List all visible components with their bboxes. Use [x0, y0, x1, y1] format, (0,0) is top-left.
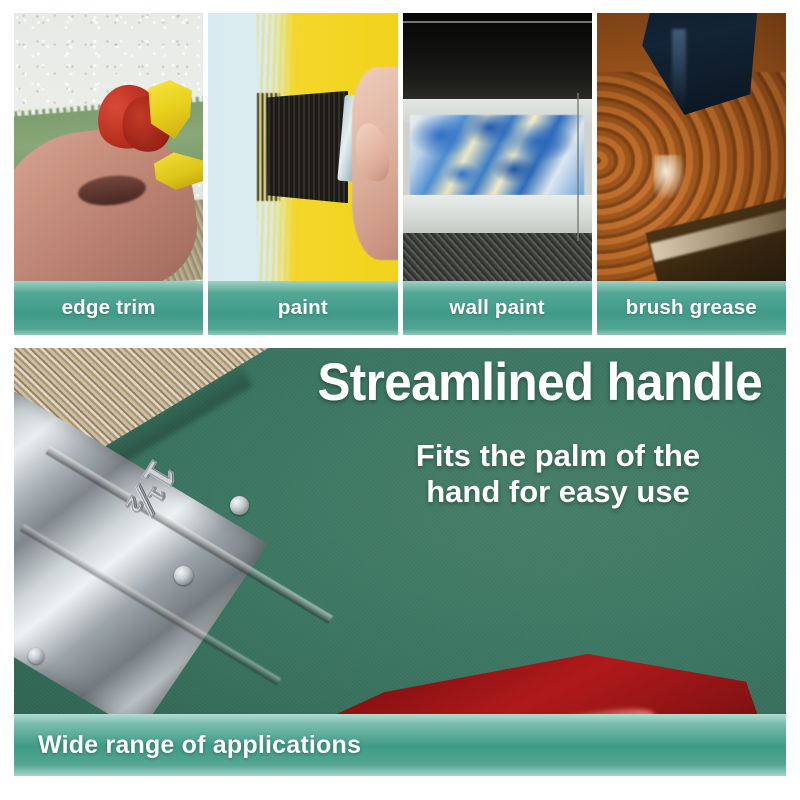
- hero-subtitle-line-1: Fits the palm of the: [358, 438, 758, 474]
- ferrule-rivet: [230, 496, 249, 515]
- feature-label-brush-grease: brush grease: [597, 281, 786, 335]
- feature-label-edge-trim: edge trim: [14, 281, 203, 335]
- lower-wall: [403, 195, 592, 233]
- photo-wall-paint: [403, 13, 592, 281]
- hero-panel: 1½ Streamlined handle Fits the palm of t…: [14, 348, 786, 776]
- dark-ceiling: [403, 13, 592, 99]
- ferrule-rivet: [28, 648, 44, 664]
- feature-label-text: edge trim: [62, 296, 156, 320]
- feature-card-wall-paint[interactable]: wall paint: [403, 13, 592, 335]
- photo-paint: [208, 13, 397, 281]
- feature-label-text: paint: [278, 296, 328, 320]
- hero-banner-text: Wide range of applications: [38, 731, 361, 760]
- carpet-floor: [403, 233, 592, 281]
- grease-spot: [654, 155, 684, 198]
- feature-label-text: brush grease: [626, 296, 757, 320]
- hero-subtitle-line-2: hand for easy use: [358, 474, 758, 510]
- feature-label-wall-paint: wall paint: [403, 281, 592, 335]
- feature-card-brush-grease[interactable]: brush grease: [597, 13, 786, 335]
- hero-subtitle: Fits the palm of the hand for easy use: [358, 438, 758, 509]
- feature-grid: edge trim paint: [0, 13, 800, 335]
- feature-card-edge-trim[interactable]: edge trim: [14, 13, 203, 335]
- feature-card-paint[interactable]: paint: [208, 13, 397, 335]
- feature-label-paint: paint: [208, 281, 397, 335]
- hero-bottom-banner: Wide range of applications: [14, 714, 786, 776]
- photo-edge-trim: [14, 13, 203, 281]
- ferrule-rivet: [174, 566, 193, 585]
- brush-bristles: [265, 91, 348, 204]
- blue-wall-mural: [410, 115, 584, 195]
- feature-label-text: wall paint: [449, 296, 544, 320]
- product-infographic-page: edge trim paint: [0, 0, 800, 800]
- ceiling-trim-line: [403, 21, 592, 23]
- photo-brush-grease: [597, 13, 786, 281]
- brush-highlight: [672, 29, 685, 109]
- wall-corner-line: [577, 93, 579, 240]
- hero-title: Streamlined handle: [317, 352, 762, 413]
